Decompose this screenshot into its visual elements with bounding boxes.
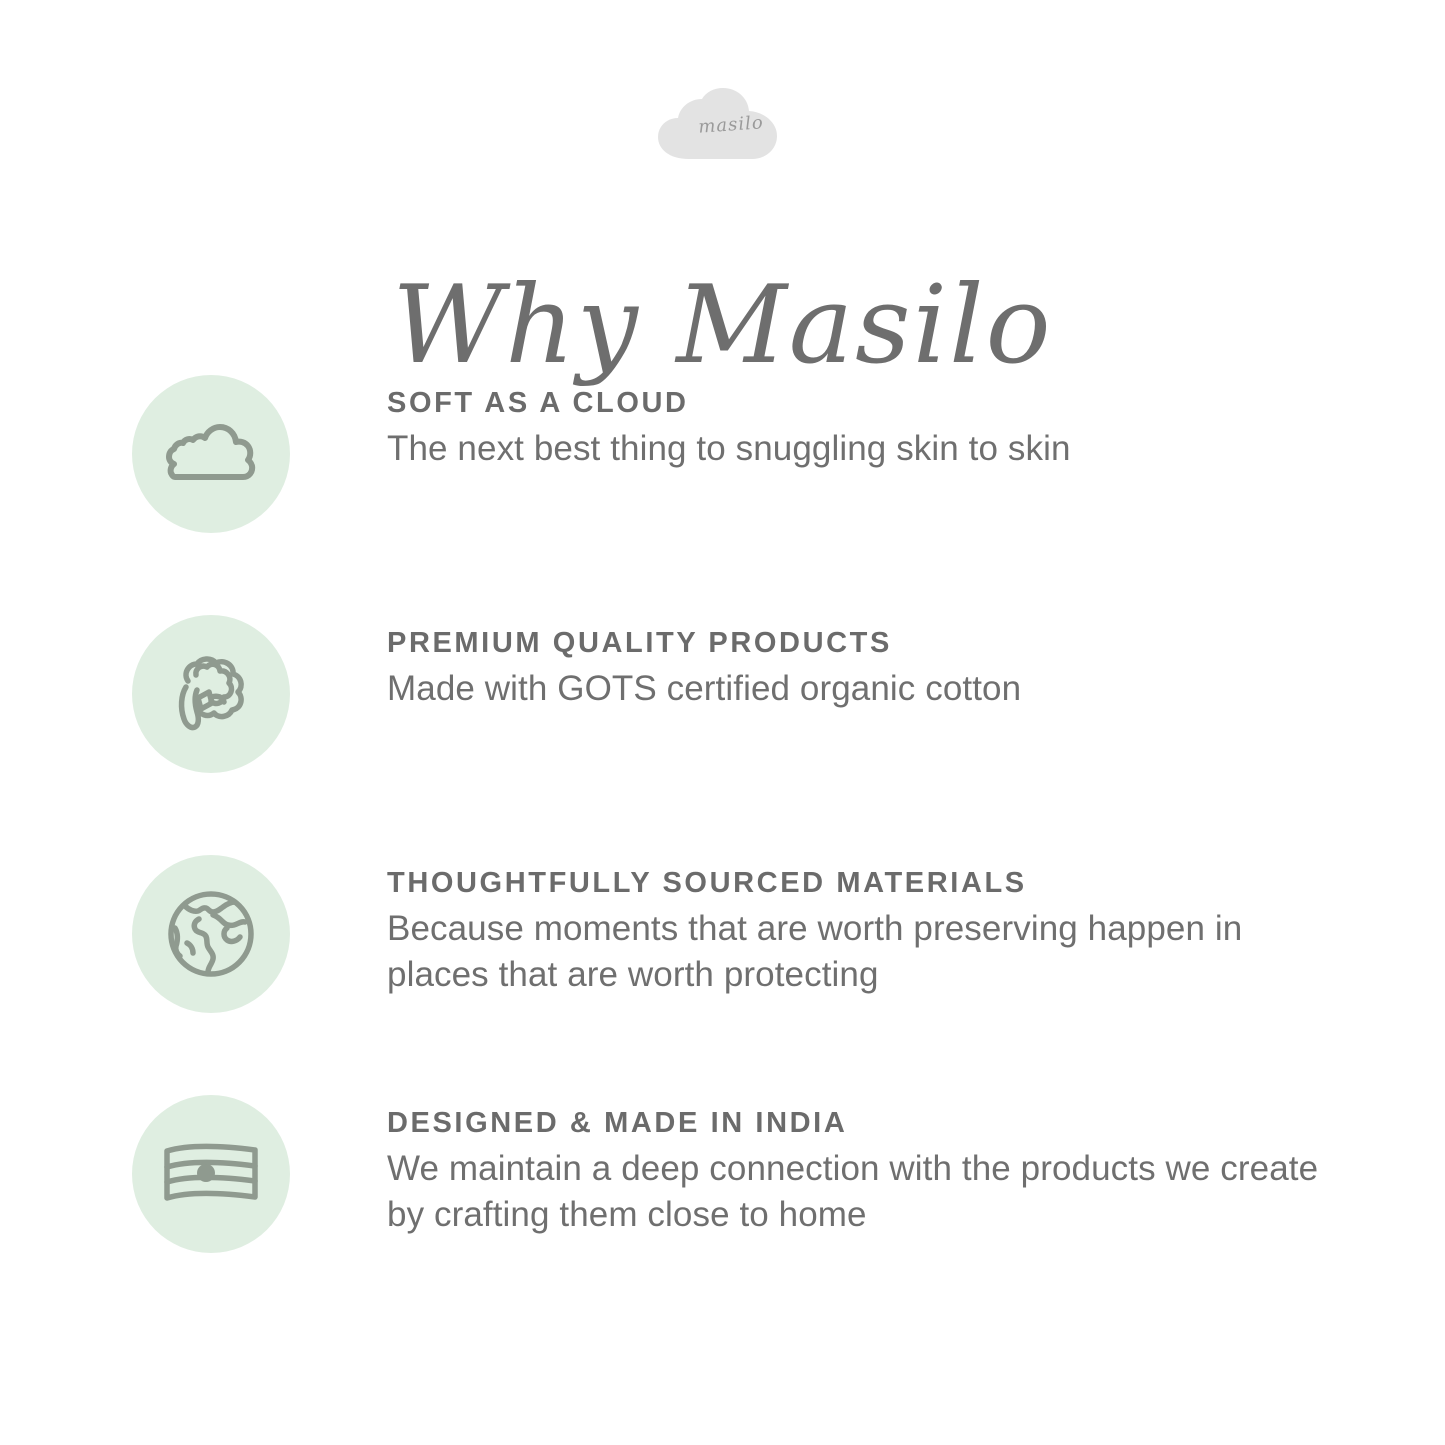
feature-title: PREMIUM QUALITY PRODUCTS xyxy=(387,627,1327,660)
brand-logo-text: masilo xyxy=(650,82,795,168)
feature-item: SOFT AS A CLOUD The next best thing to s… xyxy=(132,375,1332,615)
feature-icon-badge xyxy=(132,615,290,773)
globe-icon xyxy=(165,888,257,980)
feature-icon-badge xyxy=(132,375,290,533)
feature-icon-badge xyxy=(132,855,290,1013)
feature-icon-badge xyxy=(132,1095,290,1253)
feature-title: DESIGNED & MADE IN INDIA xyxy=(387,1107,1327,1140)
feature-description: Made with GOTS certified organic cotton xyxy=(387,666,1327,712)
india-flag-icon xyxy=(161,1139,261,1209)
feature-text-block: SOFT AS A CLOUD The next best thing to s… xyxy=(387,387,1327,472)
feature-text-block: DESIGNED & MADE IN INDIA We maintain a d… xyxy=(387,1107,1327,1237)
feature-text-block: THOUGHTFULLY SOURCED MATERIALS Because m… xyxy=(387,867,1327,997)
feature-description: The next best thing to snuggling skin to… xyxy=(387,426,1327,472)
feature-description: Because moments that are worth preservin… xyxy=(387,906,1327,997)
page-title: Why Masilo xyxy=(0,268,1445,385)
brand-logo[interactable]: masilo xyxy=(0,80,1445,170)
cotton-boll-icon xyxy=(168,651,254,737)
cloud-icon xyxy=(165,419,257,489)
feature-item: THOUGHTFULLY SOURCED MATERIALS Because m… xyxy=(132,855,1332,1095)
feature-description: We maintain a deep connection with the p… xyxy=(387,1146,1327,1237)
feature-item: DESIGNED & MADE IN INDIA We maintain a d… xyxy=(132,1095,1332,1335)
feature-text-block: PREMIUM QUALITY PRODUCTS Made with GOTS … xyxy=(387,627,1327,712)
feature-item: PREMIUM QUALITY PRODUCTS Made with GOTS … xyxy=(132,615,1332,855)
feature-list: SOFT AS A CLOUD The next best thing to s… xyxy=(132,375,1332,1335)
feature-title: SOFT AS A CLOUD xyxy=(387,387,1327,420)
feature-title: THOUGHTFULLY SOURCED MATERIALS xyxy=(387,867,1327,900)
